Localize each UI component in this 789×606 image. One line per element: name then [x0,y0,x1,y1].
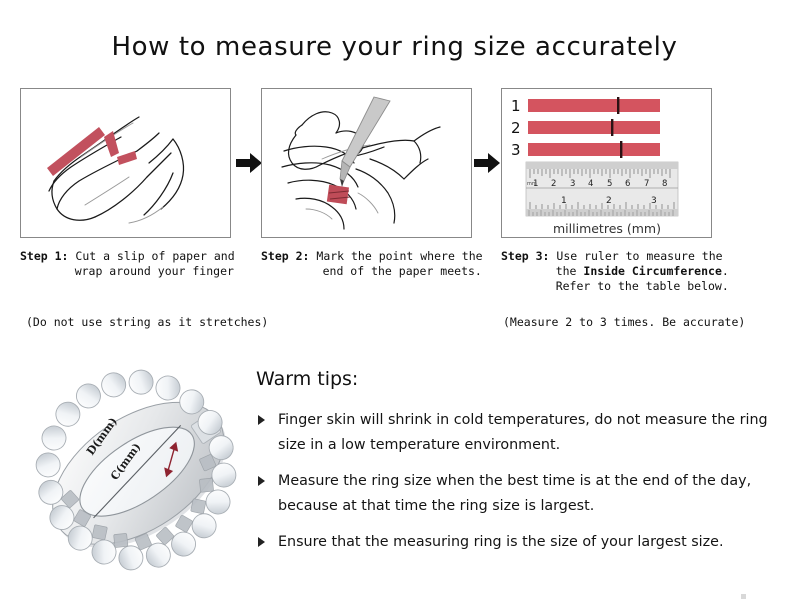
triangle-bullet-icon [258,537,265,547]
step-3-caption-line3: Refer to the table below. [556,279,729,293]
ruler-metric-3: 3 [570,179,575,189]
hand-marking-paper-with-pen-icon [262,89,472,238]
ruler-unit-caption: millimetres (mm) [553,221,661,236]
warm-tip-item: Measure the ring size when the best time… [256,469,771,519]
step-2-illustration-panel [261,88,472,238]
step-2-caption-lead: Step 2: [261,249,309,263]
ruler: 1 2 3 4 5 6 7 8 mm 1 2 3 [526,162,678,216]
step-3-caption-lead: Step 3: [501,249,549,263]
strip-label-3: 3 [511,141,521,159]
step-3-caption-line2-tail: . [722,264,729,278]
step-3-caption: Step 3: Use ruler to measure the the Ins… [501,249,729,294]
triangle-bullet-icon [258,415,265,425]
warm-tip-text: Finger skin will shrink in cold temperat… [278,412,768,453]
step-1-note: (Do not use string as it stretches) [26,315,268,329]
paper-strips [528,97,660,158]
warm-tip-item: Finger skin will shrink in cold temperat… [256,408,771,458]
right-arrow-icon [236,152,262,174]
paper-strips-and-ruler-icon: 1 2 3 [502,89,712,238]
ring-photo [22,352,250,580]
step-3-note: (Measure 2 to 3 times. Be accurate) [503,315,745,329]
ruler-metric-5: 5 [607,179,612,189]
ruler-metric-unit-label: mm [527,181,537,187]
arrow-step1-to-step2 [236,152,262,174]
warm-tips-section: Warm tips: Finger skin will shrink in co… [256,368,771,566]
right-arrow-icon [474,152,500,174]
ruler-inch-2: 2 [606,196,612,206]
step-1-caption-line2: wrap around your finger [75,264,234,278]
diamond-eternity-ring-icon [22,352,250,580]
step-1-caption-line1: Cut a slip of paper and [68,249,234,263]
page-title: How to measure your ring size accurately [0,32,789,62]
ruler-metric-7: 7 [644,179,649,189]
step-3-caption-line1: Use ruler to measure the [549,249,722,263]
ruler-metric-4: 4 [588,179,593,189]
hand-with-paper-slip-icon [21,89,231,238]
ruler-metric-8: 8 [662,179,667,189]
arrow-step2-to-step3 [474,152,500,174]
step-3-caption-line2: the [556,264,584,278]
step-1-caption: Step 1: Cut a slip of paper and wrap aro… [20,249,235,279]
corner-artifact [741,594,746,599]
warm-tips-heading: Warm tips: [256,368,771,390]
step-1-caption-lead: Step 1: [20,249,68,263]
ruler-metric-6: 6 [625,179,630,189]
warm-tip-text: Ensure that the measuring ring is the si… [278,534,724,550]
step-2-caption-line2: end of the paper meets. [323,264,482,278]
triangle-bullet-icon [258,476,265,486]
ruler-inch-3: 3 [651,196,657,206]
strip-label-2: 2 [511,119,521,137]
step-3-illustration-panel: 1 2 3 [501,88,712,238]
step-2-caption: Step 2: Mark the point where the end of … [261,249,483,279]
warm-tip-item: Ensure that the measuring ring is the si… [256,530,771,555]
strip-label-1: 1 [511,97,521,115]
step-2-caption-line1: Mark the point where the [309,249,482,263]
step-3-caption-inside-circumference: Inside Circumference [583,264,721,278]
step-1-illustration-panel [20,88,231,238]
ruler-metric-2: 2 [551,179,556,189]
steps-row: 1 2 3 [0,88,789,240]
warm-tip-text: Measure the ring size when the best time… [278,473,751,514]
